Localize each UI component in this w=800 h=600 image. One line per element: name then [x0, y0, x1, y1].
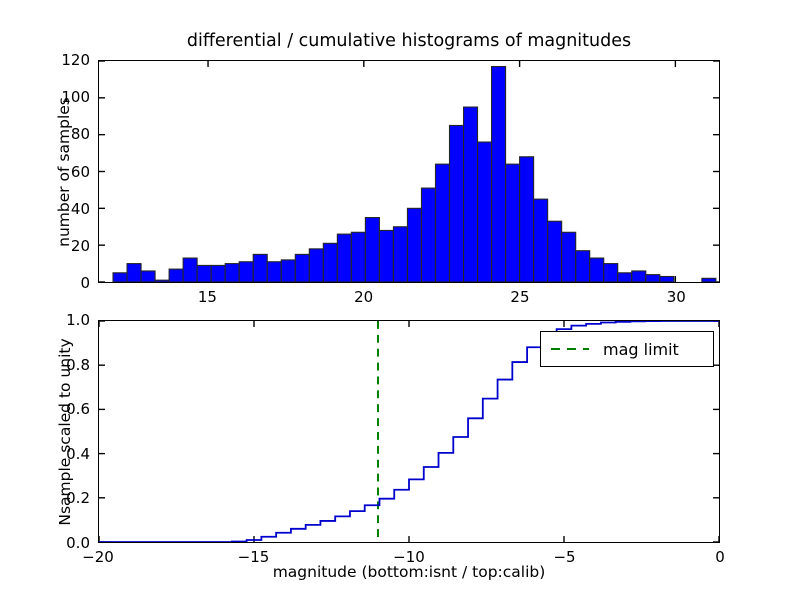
- legend-label: mag limit: [603, 340, 679, 359]
- legend[interactable]: mag limit: [540, 331, 714, 367]
- x-tick-label: 15: [198, 288, 217, 306]
- y-tick-label: 120: [0, 51, 90, 69]
- y-tick-label: 100: [0, 88, 90, 106]
- y-tick-label: 0.6: [0, 400, 90, 418]
- histogram-plot: [99, 61, 719, 282]
- y-tick-label: 0: [0, 274, 90, 292]
- y-tick-label: 0.4: [0, 445, 90, 463]
- x-tick-label: 20: [354, 288, 373, 306]
- y-tick-label: 1.0: [0, 311, 90, 329]
- y-tick-label: 0.2: [0, 489, 90, 507]
- y-tick-label: 60: [0, 163, 90, 181]
- x-tick-label: 30: [667, 288, 686, 306]
- y-tick-label: 0.8: [0, 356, 90, 374]
- y-tick-label: 80: [0, 125, 90, 143]
- x-tick-label: 25: [510, 288, 529, 306]
- y-tick-label: 20: [0, 237, 90, 255]
- chart-xlabel: magnitude (bottom:isnt / top:calib): [98, 563, 720, 581]
- y-tick-label: 0.0: [0, 534, 90, 552]
- chart-title: differential / cumulative histograms of …: [98, 31, 720, 51]
- mag-limit-line-icon: [551, 348, 589, 350]
- y-tick-label: 40: [0, 200, 90, 218]
- top-panel-axes: [98, 60, 720, 283]
- figure: differential / cumulative histograms of …: [0, 0, 800, 600]
